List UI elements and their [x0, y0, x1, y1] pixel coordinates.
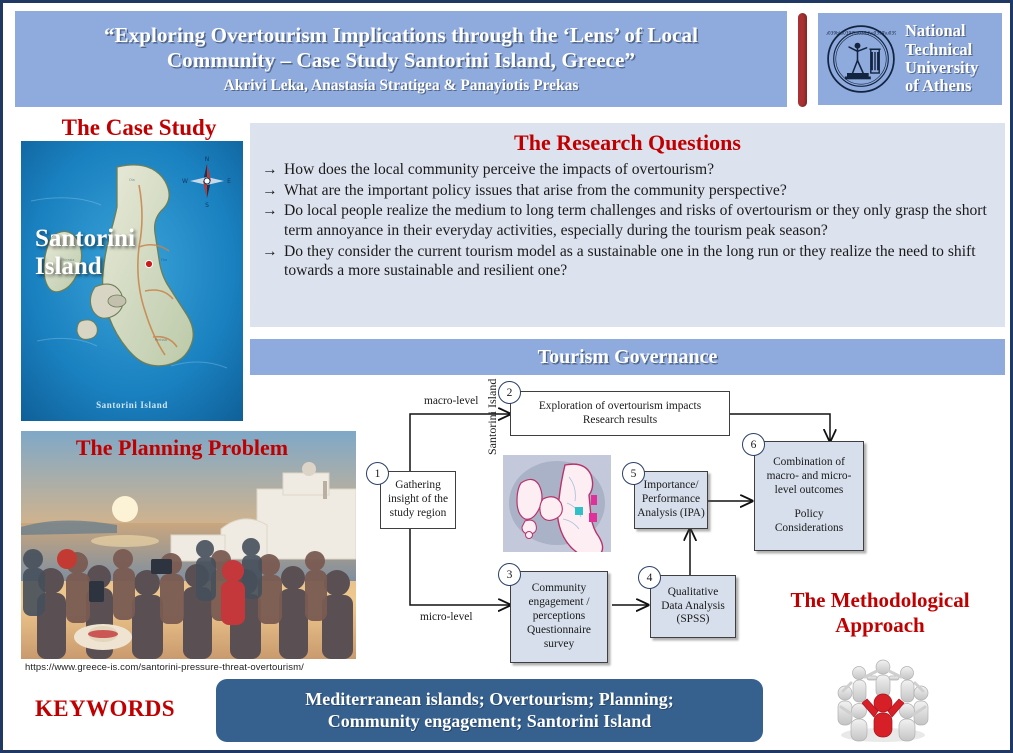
flow-node-5-line-1: Importance/	[643, 479, 698, 493]
flow-node-6-line-3: level outcomes	[775, 484, 844, 498]
methodology-heading: The Methodological Approach	[751, 588, 1009, 638]
overtourism-crowd-photo	[21, 431, 356, 659]
flow-badge-4: 4	[638, 566, 661, 589]
svg-text:W: W	[182, 178, 188, 185]
santorini-map-graphic: OiaFira PerissaThirasia N S E W	[21, 141, 243, 421]
flow-node-1-line-1: Gathering	[395, 479, 441, 493]
flow-node-3-line-3: perceptions	[533, 610, 586, 624]
methodology-title-line-2: Approach	[751, 613, 1009, 638]
flow-node-6-line-4: Policy	[794, 508, 823, 522]
svg-text:Fira: Fira	[161, 258, 167, 262]
flow-badge-6: 6	[742, 433, 765, 456]
crowd-photo-graphic	[21, 431, 356, 659]
research-question-text: Do local people realize the medium to lo…	[284, 201, 991, 240]
author-list: Akrivi Leka, Anastasia Stratigea & Panay…	[224, 77, 579, 95]
header-divider	[798, 13, 807, 107]
research-questions-heading: The Research Questions	[250, 123, 1005, 156]
flow-node-6-line-2: macro- and micro-	[767, 470, 852, 484]
flow-node-1: Gathering insight of the study region	[380, 471, 456, 529]
svg-text:Oia: Oia	[129, 178, 135, 182]
logo-line-1: National	[905, 22, 978, 40]
research-question-text: How does the local community perceive th…	[284, 160, 991, 180]
poster-header: “Exploring Overtourism Implications thro…	[12, 11, 1005, 109]
svg-text:Perissa: Perissa	[155, 338, 167, 342]
planning-problem-heading: The Planning Problem	[37, 435, 327, 461]
flow-node-4-line-3: (SPSS)	[677, 613, 710, 627]
arrow-icon: →	[262, 242, 284, 262]
edge-label-macro: macro-level	[424, 395, 478, 407]
flow-badge-3: 3	[498, 563, 521, 586]
university-name: National Technical University of Athens	[905, 22, 978, 96]
map-label-line-1: Santorini	[35, 225, 135, 253]
flow-node-5-line-3: Analysis (IPA)	[637, 507, 705, 521]
flow-node-6-line-1: Combination of	[773, 456, 845, 470]
svg-text:E: E	[227, 178, 231, 185]
research-questions-panel: The Research Questions → How does the lo…	[250, 123, 1005, 327]
title-band: “Exploring Overtourism Implications thro…	[15, 11, 787, 107]
map-caption: Santorini Island	[21, 400, 243, 410]
flow-node-3-line-4: Questionnaire	[527, 624, 591, 638]
logo-line-3: University	[905, 59, 978, 77]
logo-line-4: of Athens	[905, 77, 978, 95]
flow-node-2-line-1: Exploration of overtourism impacts	[539, 400, 701, 414]
ntua-seal-icon: \u0395\u039b\u039b\u0397\u039d\u0399\u03…	[826, 24, 896, 94]
poster-title: “Exploring Overtourism Implications thro…	[104, 23, 698, 73]
flow-node-6: Combination of macro- and micro- level o…	[754, 441, 864, 551]
flow-node-3-line-5: survey	[544, 638, 574, 652]
research-question-item: → Do they consider the current tourism m…	[262, 242, 991, 281]
flow-node-5: Importance/ Performance Analysis (IPA)	[634, 471, 708, 529]
research-question-text: Do they consider the current tourism mod…	[284, 242, 991, 281]
research-question-item: → How does the local community perceive …	[262, 160, 991, 180]
flow-badge-1: 1	[366, 462, 389, 485]
keywords-band: Mediterranean islands; Overtourism; Plan…	[216, 679, 763, 742]
research-question-item: → Do local people realize the medium to …	[262, 201, 991, 240]
svg-text:N: N	[205, 156, 210, 163]
tourism-governance-title: Tourism Governance	[538, 346, 718, 369]
methodology-title-line-1: The Methodological	[751, 588, 1009, 613]
keywords-line-1: Mediterranean islands; Overtourism; Plan…	[305, 689, 673, 711]
case-study-heading: The Case Study	[39, 115, 239, 141]
arrow-icon: →	[262, 181, 284, 201]
arrow-icon: →	[262, 160, 284, 180]
flow-node-3-line-1: Community	[532, 582, 586, 596]
flow-node-2: Exploration of overtourism impacts Resea…	[510, 391, 730, 436]
flow-badge-2: 2	[498, 381, 521, 404]
research-question-text: What are the important policy issues tha…	[284, 181, 991, 201]
edge-label-micro: micro-level	[420, 611, 473, 623]
keywords-label: KEYWORDS	[35, 696, 175, 722]
flow-node-1-line-2: insight of the	[388, 493, 448, 507]
flow-node-3: Community engagement / perceptions Quest…	[510, 571, 608, 663]
flow-badge-5: 5	[622, 462, 645, 485]
flow-node-2-line-2: Research results	[583, 414, 657, 428]
svg-text:\u0395\u039b\u039b\u0397\u039d: \u0395\u039b\u039b\u0397\u039d\u0399\u03…	[826, 31, 896, 37]
title-line-1: “Exploring Overtourism Implications thro…	[104, 23, 698, 48]
people-circle-icon	[829, 649, 937, 743]
poster-root: “Exploring Overtourism Implications thro…	[0, 0, 1013, 753]
photo-source-url[interactable]: https://www.greece-is.com/santorini-pres…	[25, 662, 304, 673]
flow-node-4-line-1: Qualitative	[668, 586, 719, 600]
keywords-line-2: Community engagement; Santorini Island	[328, 711, 652, 733]
map-label-line-2: Island	[35, 253, 135, 281]
flow-node-4-line-2: Data Analysis	[661, 600, 725, 614]
flow-node-3-line-2: engagement /	[528, 596, 589, 610]
flow-node-6-line-5: Considerations	[775, 522, 843, 536]
community-circle-illustration	[829, 649, 937, 743]
university-logo-band: \u0395\u039b\u039b\u0397\u039d\u0399\u03…	[818, 13, 1002, 105]
flow-node-1-line-3: study region	[390, 507, 447, 521]
santorini-map-image: OiaFira PerissaThirasia N S E W Santorin…	[21, 141, 243, 421]
research-question-item: → What are the important policy issues t…	[262, 181, 991, 201]
flow-node-4: Qualitative Data Analysis (SPSS)	[650, 575, 736, 638]
mini-santorini-map	[503, 455, 611, 552]
mini-map-graphic	[503, 455, 611, 552]
research-questions-list: → How does the local community perceive …	[250, 160, 1005, 281]
arrow-icon: →	[262, 201, 284, 221]
title-line-2: Community – Case Study Santorini Island,…	[104, 48, 698, 73]
tourism-governance-band: Tourism Governance	[250, 339, 1005, 375]
logo-line-2: Technical	[905, 41, 978, 59]
map-island-label: Santorini Island	[35, 225, 135, 281]
svg-text:S: S	[205, 202, 209, 209]
flow-node-5-line-2: Performance	[642, 493, 700, 507]
